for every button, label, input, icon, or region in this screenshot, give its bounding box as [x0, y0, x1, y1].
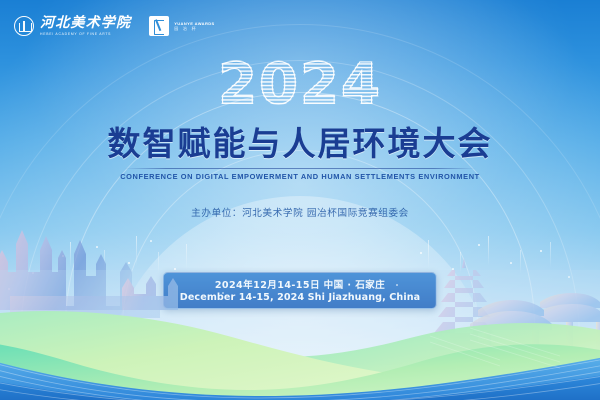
- title-divider: [124, 168, 476, 169]
- scenery-graphic: [0, 210, 600, 400]
- scenery-layer: [0, 210, 600, 400]
- academy-seal-icon: [14, 16, 34, 36]
- title-block: 数智赋能与人居环境大会 CONFERENCE ON DIGITAL EMPOWE…: [0, 126, 600, 181]
- year-heading: 2024 2024 2024: [0, 56, 600, 119]
- conference-title-cn: 数智赋能与人居环境大会: [0, 126, 600, 163]
- logo-hebei-academy[interactable]: 河北美术学院 HEBEI ACADEMY OF FINE ARTS: [14, 16, 131, 36]
- year-2024-graphic: 2024 2024: [212, 56, 388, 114]
- conference-poster: 河北美术学院 HEBEI ACADEMY OF FINE ARTS YUANYE…: [0, 0, 600, 400]
- yuanye-book-icon: [149, 16, 169, 36]
- yuanye-name-cn: 园 冶 杯: [174, 26, 214, 31]
- academy-name-cn: 河北美术学院: [40, 16, 131, 30]
- header-logos: 河北美术学院 HEBEI ACADEMY OF FINE ARTS YUANYE…: [0, 0, 600, 52]
- logo-yuanye-awards[interactable]: YUANYE AWARDS 园 冶 杯: [149, 16, 214, 36]
- year-2024-outline: 2024: [218, 56, 382, 114]
- conference-title-en: CONFERENCE ON DIGITAL EMPOWERMENT AND HU…: [0, 172, 600, 181]
- academy-name-en: HEBEI ACADEMY OF FINE ARTS: [40, 33, 131, 36]
